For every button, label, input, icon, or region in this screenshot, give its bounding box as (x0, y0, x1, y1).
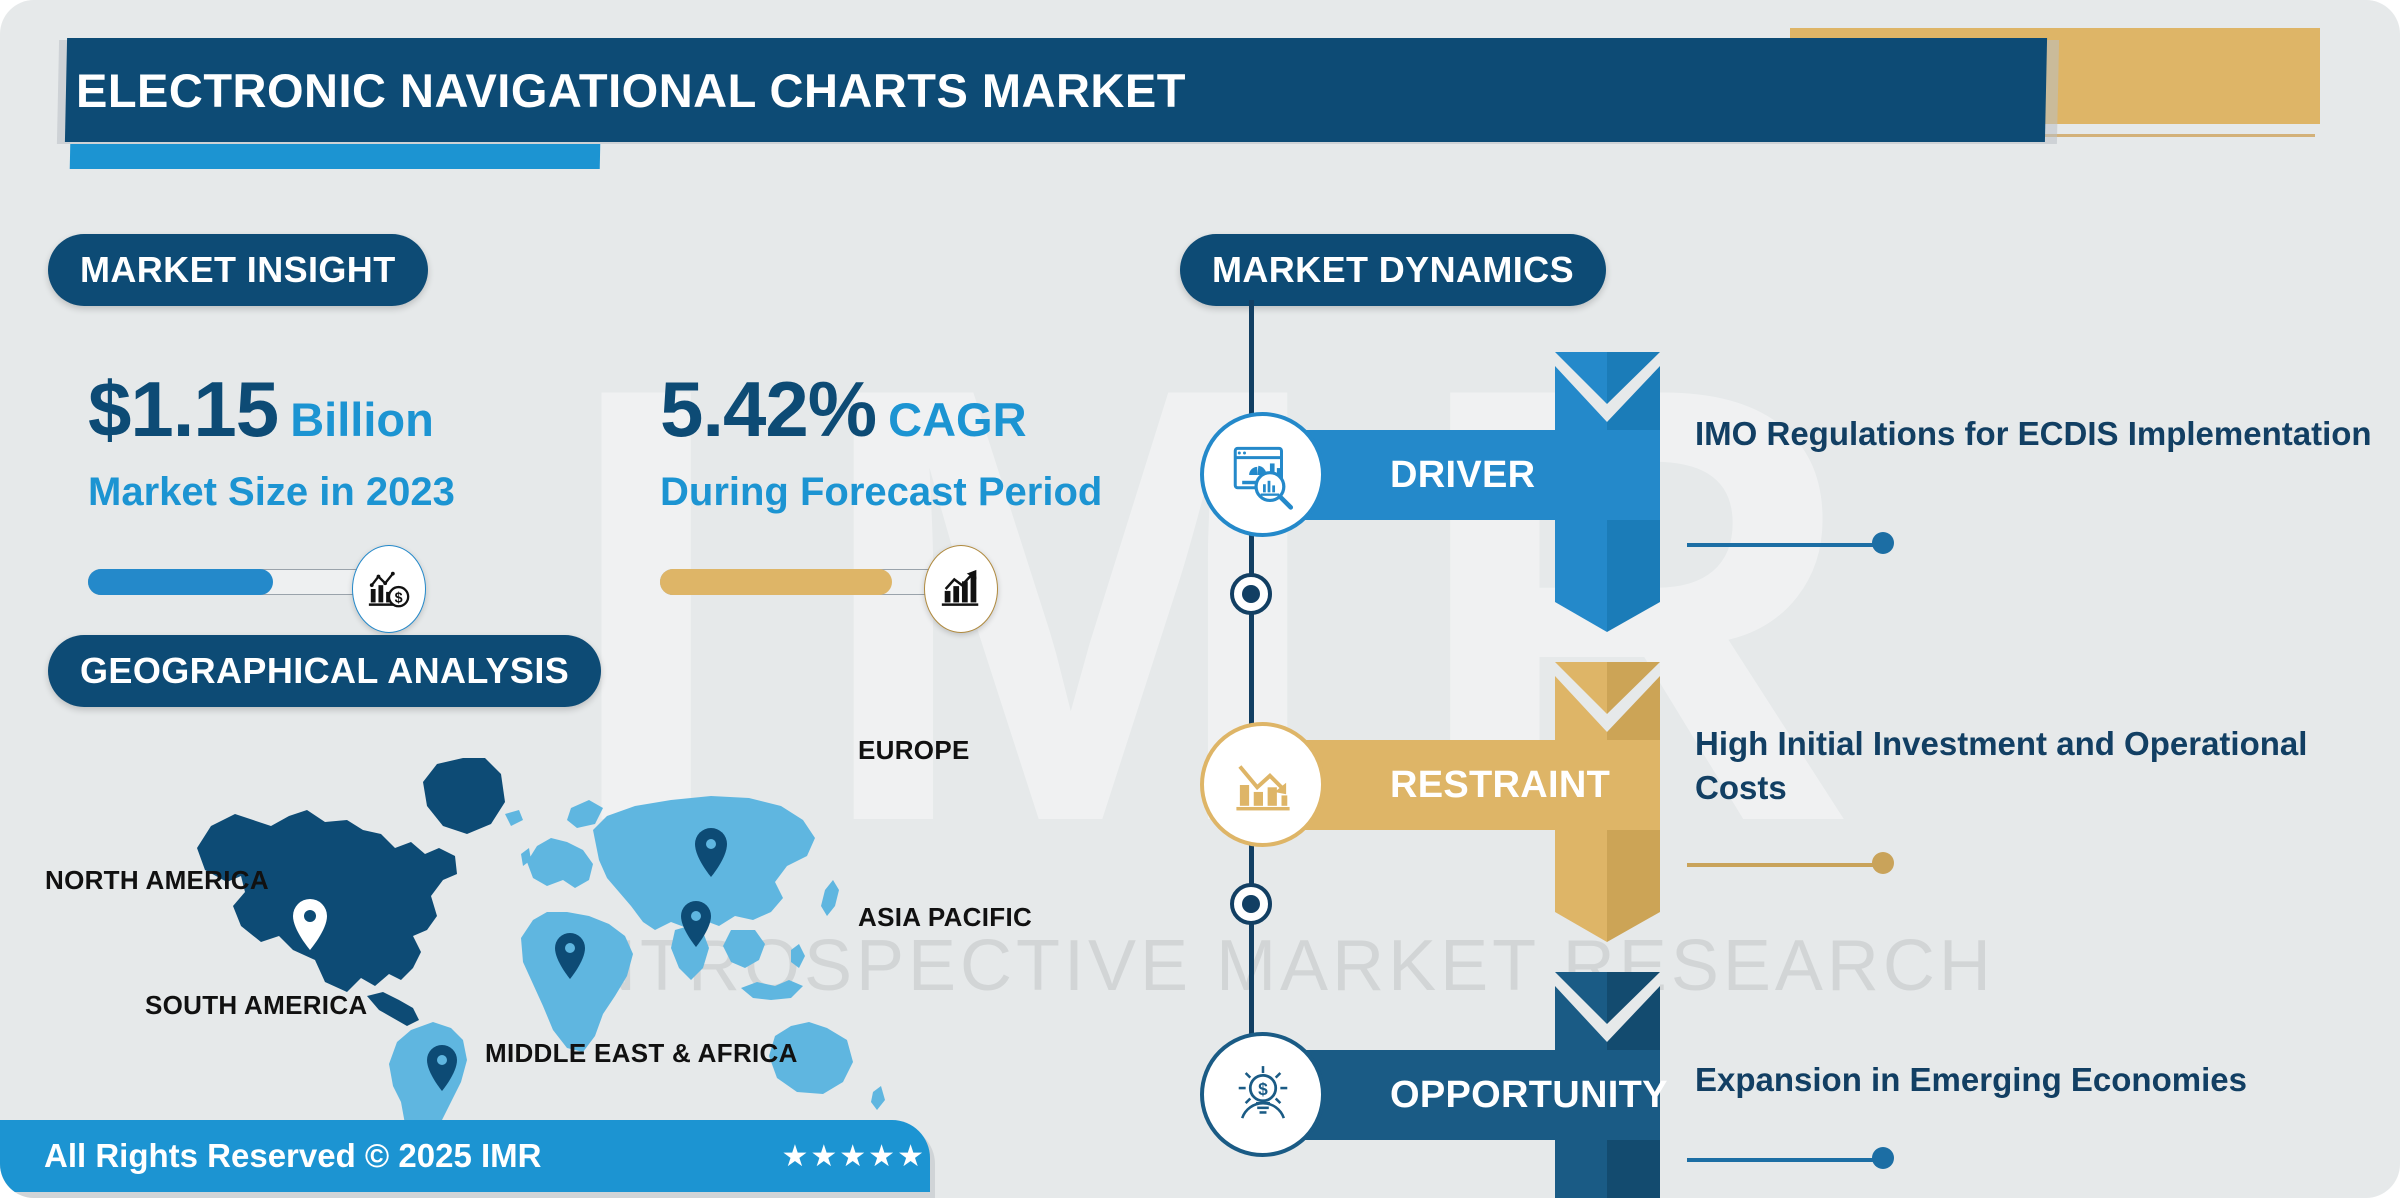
svg-text:$: $ (1258, 1079, 1268, 1099)
dynamics-text-opportunity: Expansion in Emerging Economies (1695, 1058, 2395, 1102)
declining-bar-chart-icon (1200, 722, 1325, 847)
map-region-iceland (505, 810, 523, 826)
market-insight-heading: MARKET INSIGHT (48, 234, 428, 306)
footer-bar: All Rights Reserved © 2025 IMR ★★★★★ (0, 1120, 930, 1192)
dynamics-underline (1687, 543, 1882, 547)
kpi-market-size-unit: Billion (290, 393, 434, 446)
kpi-cagr: 5.42%CAGR During Forecast Period (660, 370, 1102, 617)
dynamics-end-dot (1872, 1147, 1894, 1169)
map-region-new-zealand (871, 1086, 885, 1110)
map-region-philippines (791, 944, 805, 968)
map-region-greenland (423, 758, 505, 834)
infographic-canvas: IMR INTROSPECTIVE MARKET RESEARCH ELECTR… (0, 0, 2400, 1198)
map-region-north-america (197, 810, 457, 992)
dashboard-magnifier-icon (1200, 412, 1325, 537)
world-map (175, 730, 915, 1170)
copyright-text: All Rights Reserved © 2025 IMR (44, 1137, 541, 1175)
map-label-asia-pacific: ASIA PACIFIC (858, 902, 1032, 933)
dynamics-end-dot (1872, 852, 1894, 874)
progress-fill (88, 569, 273, 595)
dynamics-row-driver: DRIVER IMO Regulations for ECDIS Impleme… (1200, 390, 2400, 590)
map-label-north-america: NORTH AMERICA (45, 865, 269, 896)
market-dynamics-heading: MARKET DYNAMICS (1180, 234, 1606, 306)
kpi-market-size: $1.15Billion Market Size in 2023 $ (88, 370, 455, 617)
progress-fill (660, 569, 892, 595)
map-region-europe (527, 838, 593, 888)
kpi-market-size-progress: $ (88, 547, 428, 617)
svg-text:$: $ (395, 590, 403, 606)
rating-stars: ★★★★★ (781, 1139, 925, 1174)
page-title: ELECTRONIC NAVIGATIONAL CHARTS MARKET (76, 38, 2036, 142)
dynamics-row-opportunity: OPPORTUNITY $ Expansion in Emerging Econ… (1200, 1010, 2400, 1198)
map-label-europe: EUROPE (858, 735, 970, 766)
map-region-africa (521, 912, 633, 1052)
kpi-cagr-unit: CAGR (888, 393, 1026, 446)
geographical-analysis-heading: GEOGRAPHICAL ANALYSIS (48, 635, 601, 707)
map-region-indonesia (741, 980, 803, 1000)
map-region-japan (821, 880, 839, 916)
kpi-cagr-caption: During Forecast Period (660, 470, 1102, 515)
map-region-southeast-asia (723, 930, 765, 968)
dynamics-end-dot (1872, 532, 1894, 554)
dynamics-underline (1687, 863, 1882, 867)
growth-arrow-icon (924, 545, 998, 633)
map-label-middle-east-africa: MIDDLE EAST & AFRICA (485, 1038, 798, 1069)
dynamics-text-restraint: High Initial Investment and Operational … (1695, 722, 2395, 809)
kpi-market-size-value: $1.15 (88, 365, 278, 453)
header-blue-accent (70, 144, 601, 169)
map-region-scandinavia (567, 800, 603, 828)
kpi-cagr-progress (660, 547, 1000, 617)
kpi-market-size-caption: Market Size in 2023 (88, 470, 455, 515)
lightbulb-dollar-icon: $ (1200, 1032, 1325, 1157)
bar-chart-dollar-icon: $ (352, 545, 426, 633)
kpi-cagr-value: 5.42% (660, 365, 876, 453)
map-label-south-america: SOUTH AMERICA (145, 990, 368, 1021)
dynamics-text-driver: IMO Regulations for ECDIS Implementation (1695, 412, 2395, 456)
dynamics-underline (1687, 1158, 1882, 1162)
map-region-central-america (367, 992, 419, 1026)
dynamics-row-restraint: RESTRAINT High Initial Investment and Op… (1200, 700, 2400, 900)
